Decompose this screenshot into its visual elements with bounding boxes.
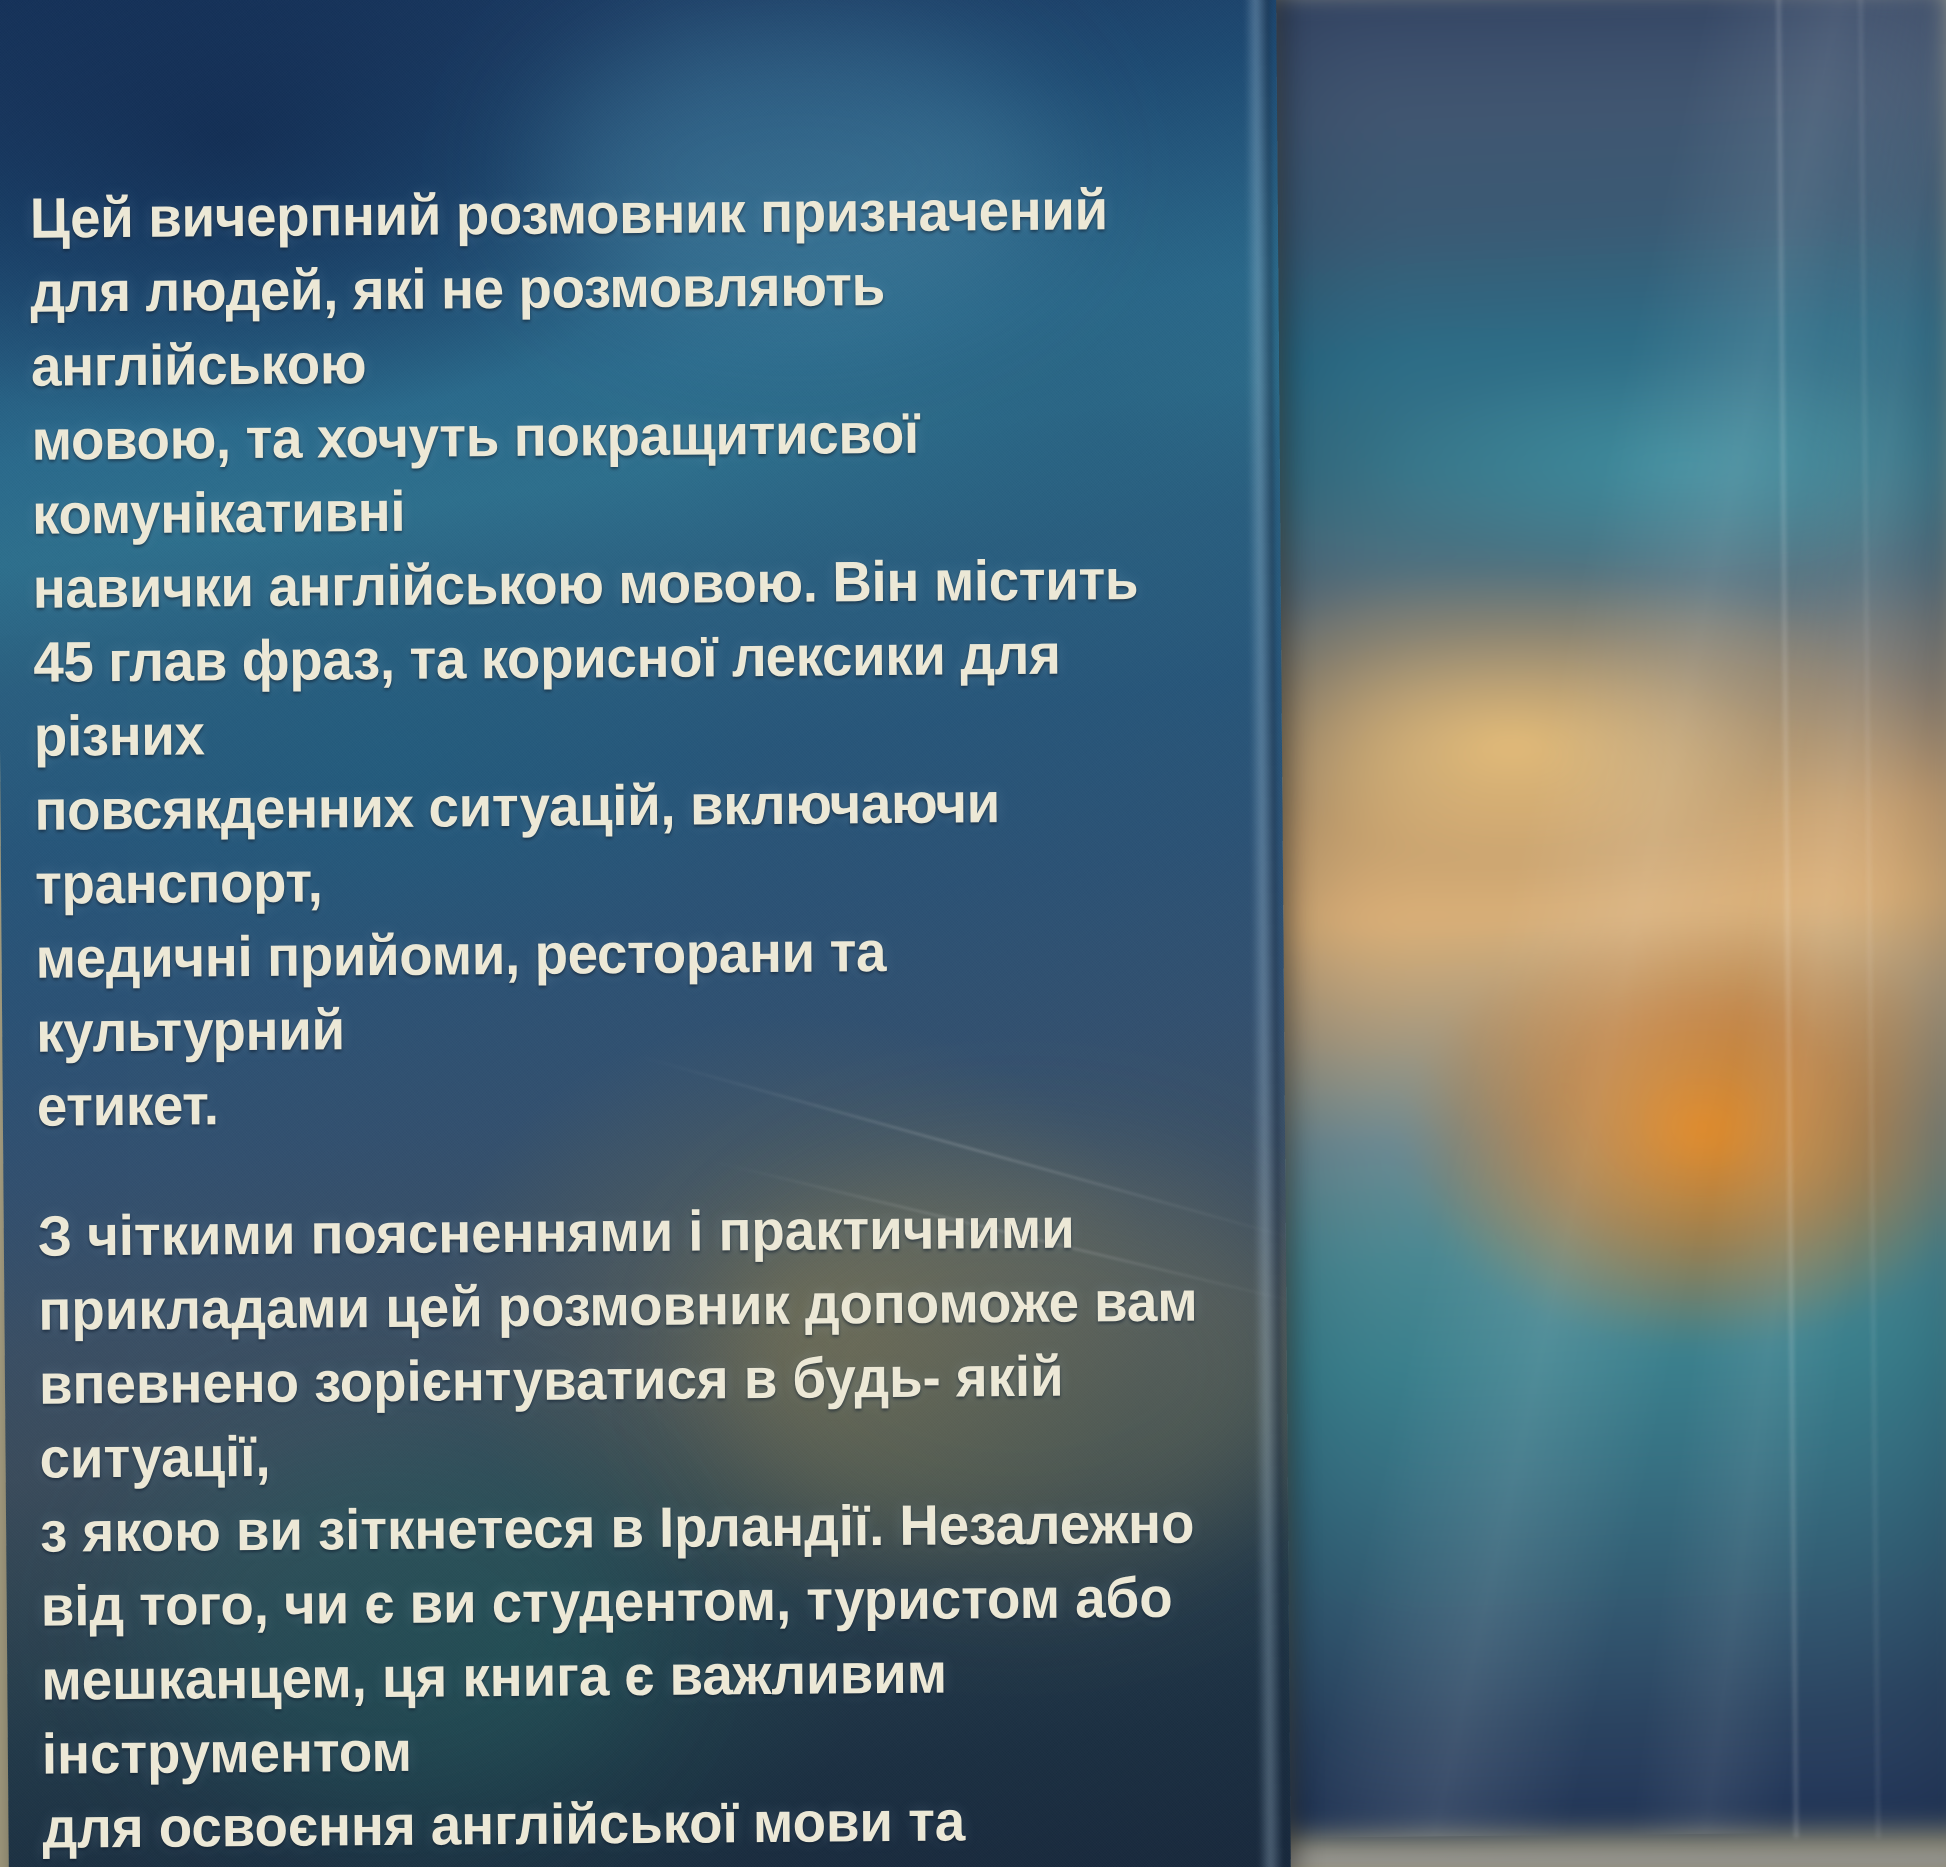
back-cover-text-block: Цей вичерпний розмовник призначений для … [30, 172, 1267, 1867]
screenshot-root: Цей вичерпний розмовник призначений для … [0, 0, 1946, 1867]
book-back-cover: Цей вичерпний розмовник призначений для … [0, 0, 1291, 1867]
cover-photo-panel [1262, 0, 1946, 1838]
blurb-paragraph-intro: Цей вичерпний розмовник призначений для … [30, 173, 1209, 1144]
bottom-light-sliver [1262, 1841, 1946, 1867]
blurb-paragraph-benefits: З чіткими поясненнями і практичними прик… [38, 1190, 1216, 1867]
